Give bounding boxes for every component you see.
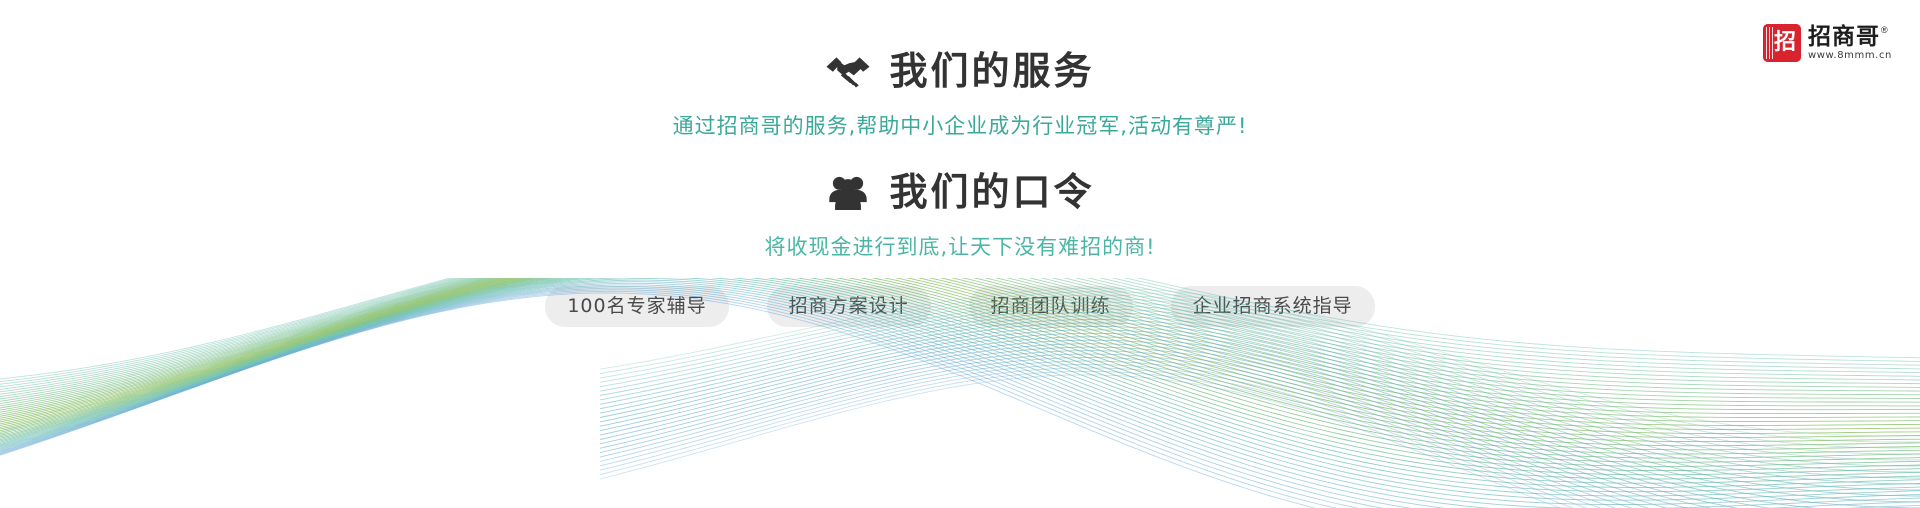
section-heading-text: 我们的服务 [889,52,1094,90]
banner-content: 我们的服务 通过招商哥的服务,帮助中小企业成为行业冠军,活动有尊严! 我们的口令… [0,0,1920,327]
section-heading-motto: 我们的口令 [825,169,1094,215]
section-subtitle-motto: 将收现金进行到底,让天下没有难招的商! [764,235,1155,260]
service-tag-list: 100名专家辅导 招商方案设计 招商团队训练 企业招商系统指导 [545,286,1374,327]
handshake-icon [825,48,871,94]
users-group-icon [825,169,871,215]
service-tag[interactable]: 招商方案设计 [767,286,931,327]
section-heading-text: 我们的口令 [889,173,1094,211]
section-heading-service: 我们的服务 [825,48,1094,94]
service-tag[interactable]: 企业招商系统指导 [1171,286,1375,327]
section-subtitle-service: 通过招商哥的服务,帮助中小企业成为行业冠军,活动有尊严! [673,114,1248,139]
service-tag[interactable]: 100名专家辅导 [545,286,728,327]
service-tag[interactable]: 招商团队训练 [969,286,1133,327]
banner-root: 招 招商哥 ® www.8mmm.cn [0,0,1920,508]
